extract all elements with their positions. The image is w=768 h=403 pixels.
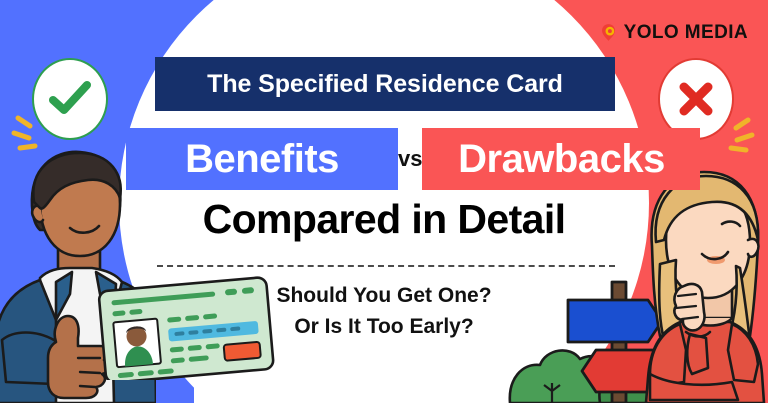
brand-logo-text: YOLO MEDIA	[624, 23, 748, 42]
x-icon	[676, 79, 716, 119]
title-bar: The Specified Residence Card	[155, 57, 615, 111]
drawbacks-chip: Drawbacks	[422, 128, 700, 190]
brand-logo[interactable]: YOLO MEDIA	[598, 22, 748, 43]
check-icon	[48, 79, 92, 119]
dashed-divider	[157, 265, 615, 267]
subline-question-1: Should You Get One?	[0, 284, 768, 308]
yolo-flame-mark-icon	[598, 22, 619, 43]
thumbnail-canvas: YOLO MEDIA The Specified Residence C	[0, 0, 768, 403]
check-circle-badge	[32, 58, 108, 140]
benefits-chip: Benefits	[126, 128, 398, 190]
benefits-vs-drawbacks-row: Benefits vs Drawbacks	[126, 128, 670, 190]
vs-label: vs	[398, 128, 422, 190]
title-bar-text: The Specified Residence Card	[207, 70, 563, 99]
subline-question-2: Or Is It Too Early?	[0, 315, 768, 339]
headline-text: Compared in Detail	[0, 196, 768, 243]
